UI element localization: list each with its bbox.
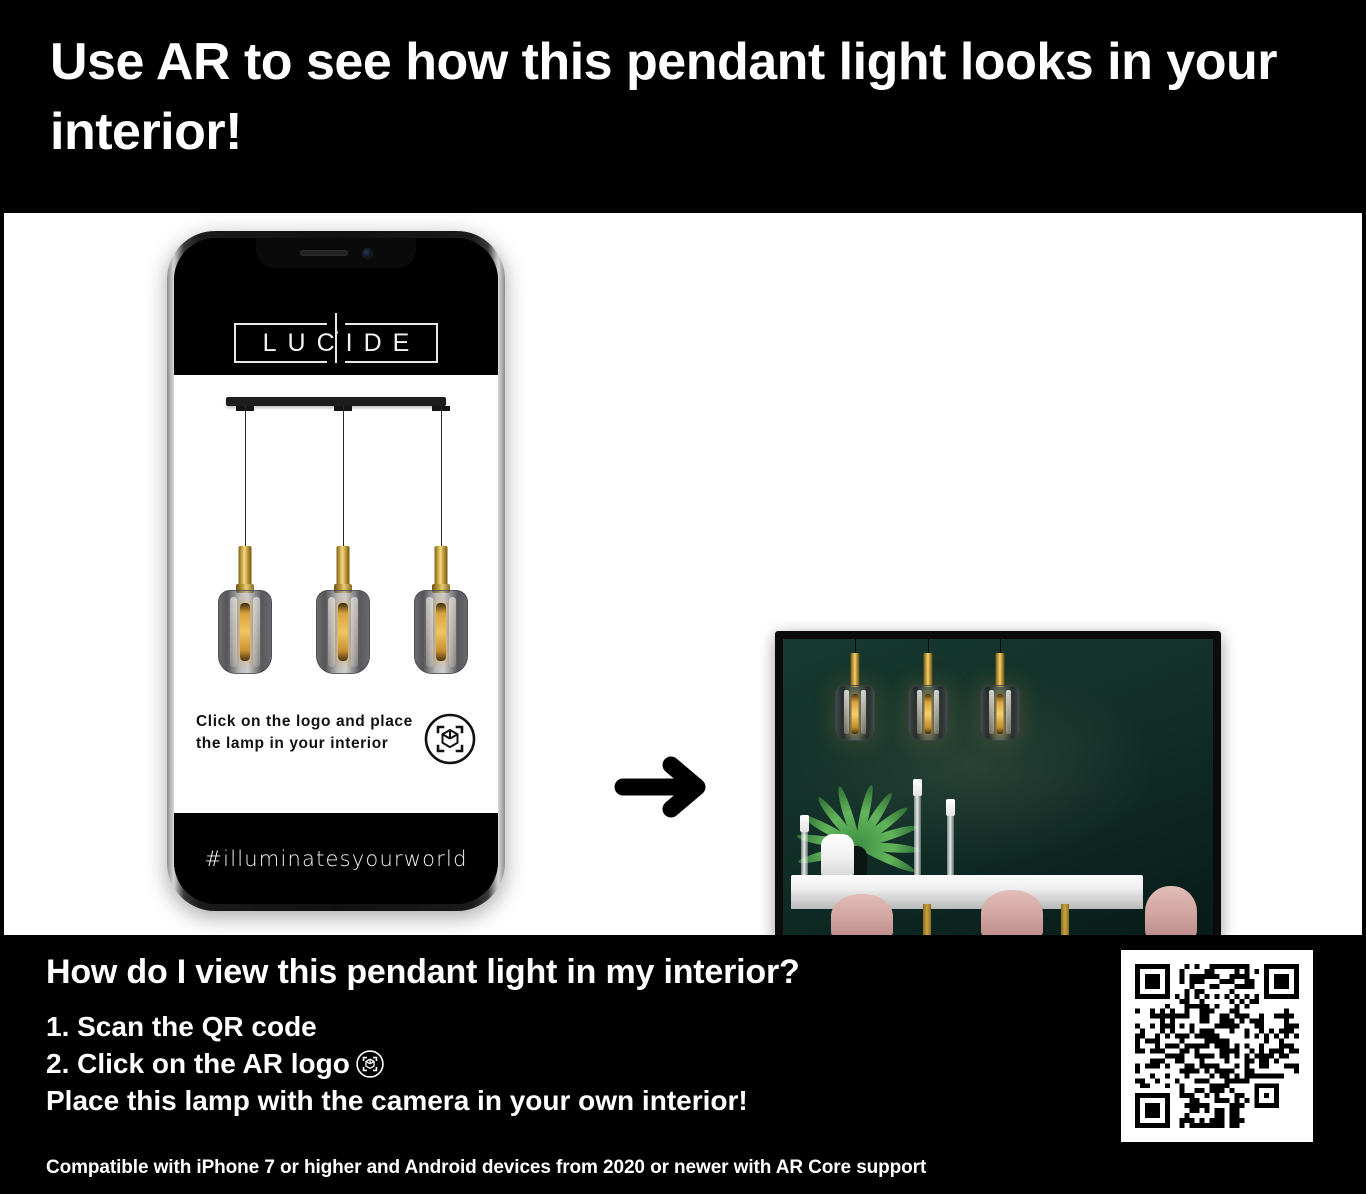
footer-steps: 1. Scan the QR code 2. Click on the AR l… [46, 1009, 1066, 1120]
phone-mockup: LUCIDE [167, 231, 505, 911]
interior-photo-frame [775, 631, 1221, 948]
pendant-cord [343, 406, 345, 546]
candle [800, 815, 809, 832]
glass-highlight [253, 597, 260, 667]
phone-screen: LUCIDE [174, 238, 498, 904]
pendant-brass-stem [239, 546, 252, 588]
ar-cube-icon [356, 1050, 384, 1078]
footer-step-text: 1. Scan the QR code [46, 1009, 317, 1046]
brand-logo-box: LUCIDE [234, 323, 438, 363]
cta-instruction-text: Click on the logo and place the lamp in … [196, 711, 414, 755]
pendant-brass-stem [996, 653, 1005, 687]
header-banner: Use AR to see how this pendant light loo… [0, 0, 1366, 213]
pendant-glass-shade [218, 590, 272, 674]
footer-step-text: 2. Click on the AR logo [46, 1046, 350, 1083]
dining-chair [831, 894, 893, 940]
footer-step: 2. Click on the AR logo [46, 1046, 1066, 1083]
glass-highlight [230, 597, 237, 667]
glass-highlight [1006, 690, 1011, 734]
page-title: Use AR to see how this pendant light loo… [50, 28, 1340, 167]
glass-highlight [351, 597, 358, 667]
footer-step-text: Place this lamp with the camera in your … [46, 1083, 748, 1120]
candlestick [947, 814, 954, 876]
pendant-brass-stem [924, 653, 933, 687]
pendant-filament-bulb [997, 694, 1004, 734]
pendant-filament-bulb [436, 603, 446, 661]
white-vase [821, 834, 854, 880]
compatibility-note: Compatible with iPhone 7 or higher and A… [46, 1157, 926, 1179]
pendant-lamp-illustration [174, 397, 498, 657]
hashtag-text: #illuminatesyourworld [204, 847, 467, 871]
glass-highlight [844, 690, 849, 734]
pendant-filament-bulb [852, 694, 859, 734]
pendant-filament-bulb [338, 603, 348, 661]
pendant-cord [1000, 639, 1002, 653]
pendant-brass-stem [851, 653, 860, 687]
cta-area: Click on the logo and place the lamp in … [174, 695, 498, 827]
logo-i-dot [335, 331, 338, 334]
earpiece-speaker-icon [300, 250, 348, 256]
glass-highlight [449, 597, 456, 667]
lamp-mounting-bar [226, 397, 446, 406]
product-screen: Click on the logo and place the lamp in … [174, 375, 498, 827]
footer-title: How do I view this pendant light in my i… [46, 953, 800, 992]
dining-chair [981, 890, 1043, 940]
pendant-cord [855, 639, 857, 653]
pendant-filament-bulb [925, 694, 932, 734]
arrow-right-icon [611, 753, 715, 821]
qr-code-icon[interactable] [1121, 950, 1313, 1142]
glass-highlight [426, 597, 433, 667]
pendant-glass-shade [414, 590, 468, 674]
pendant-brass-stem [337, 546, 350, 588]
ar-cube-icon[interactable] [424, 713, 476, 765]
dining-chair [1145, 886, 1197, 940]
footer-step: Place this lamp with the camera in your … [46, 1083, 1066, 1120]
pendant-glass-shade [980, 685, 1020, 741]
logo-i-stem [335, 313, 337, 363]
candle [913, 779, 922, 796]
interior-photo [783, 639, 1213, 940]
pendant-brass-stem [435, 546, 448, 588]
candlestick [914, 794, 921, 876]
phone-footer-band: #illuminatesyourworld [174, 813, 498, 904]
front-camera-icon [362, 248, 373, 259]
pendant-filament-bulb [240, 603, 250, 661]
illustration-stage: LUCIDE [0, 213, 1366, 935]
glass-highlight [917, 690, 922, 734]
pendant-glass-shade [316, 590, 370, 674]
phone-notch [256, 238, 416, 268]
candlestick [801, 830, 808, 876]
glass-highlight [328, 597, 335, 667]
pendant-cord [441, 406, 443, 546]
pendant-cord [245, 406, 247, 546]
palm-plant [793, 732, 923, 850]
dining-table-top [791, 875, 1143, 898]
candle [946, 799, 955, 816]
glass-highlight [934, 690, 939, 734]
glass-highlight [861, 690, 866, 734]
glass-highlight [989, 690, 994, 734]
pendant-cord [928, 639, 930, 653]
footer-step: 1. Scan the QR code [46, 1009, 1066, 1046]
